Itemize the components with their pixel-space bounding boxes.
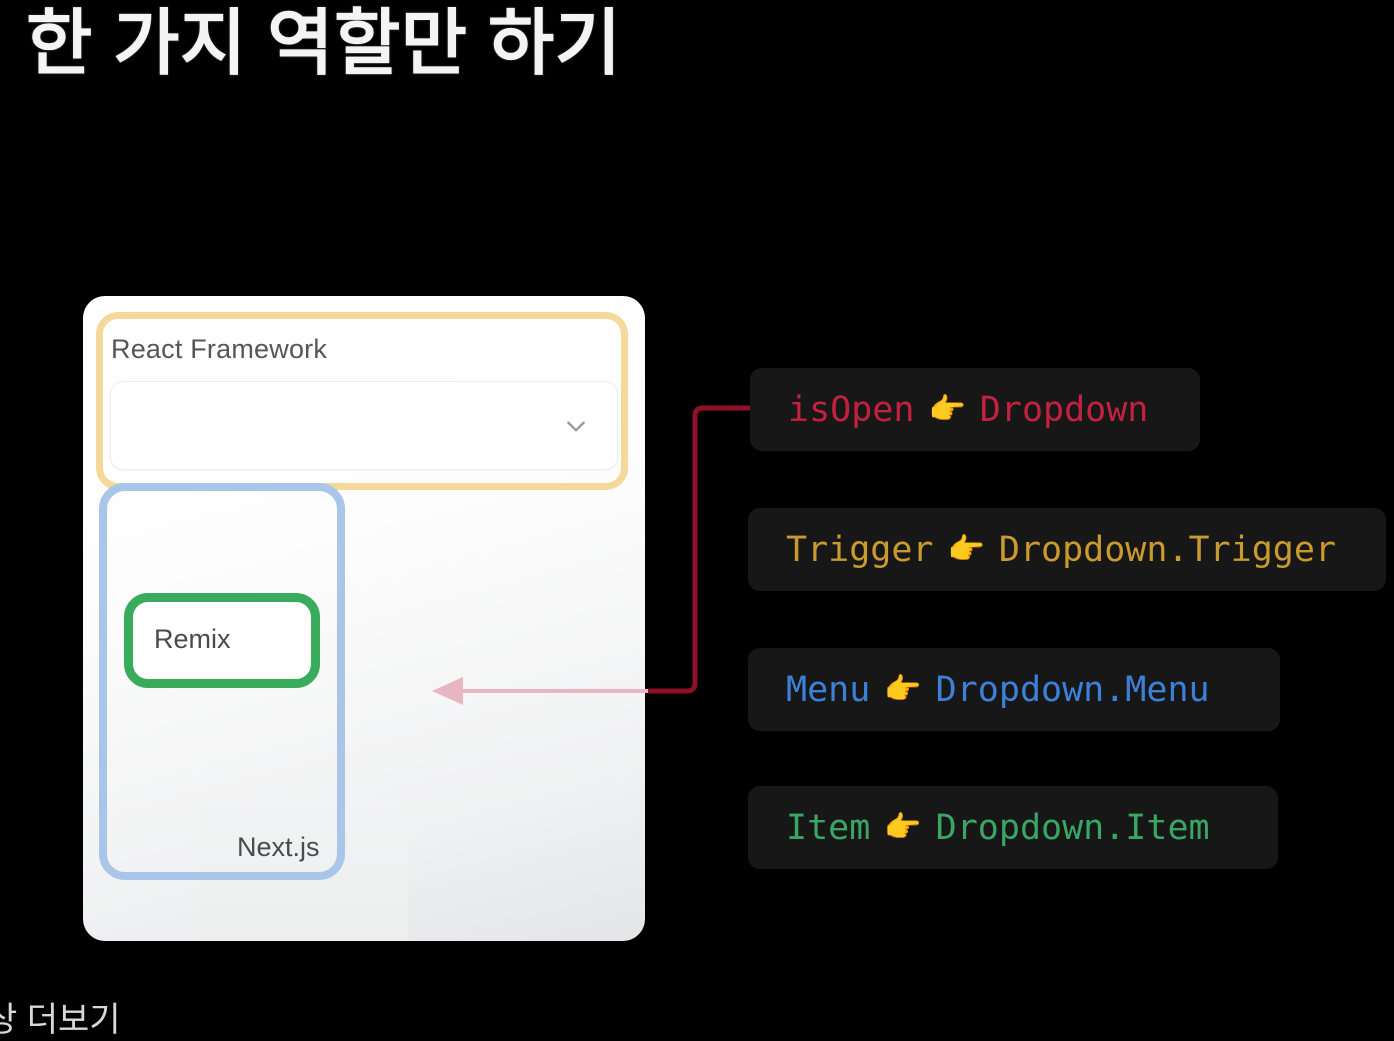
- badge-trigger: Trigger 👉 Dropdown.Trigger: [748, 508, 1386, 591]
- badge-right-text: Dropdown.Trigger: [999, 530, 1336, 570]
- badge-right-text: Dropdown: [980, 390, 1149, 430]
- pointing-hand-icon: 👉: [884, 675, 921, 705]
- badge-menu: Menu 👉 Dropdown.Menu: [748, 648, 1280, 731]
- menu-item-remix[interactable]: Remix: [200, 892, 408, 941]
- chevron-down-icon[interactable]: [563, 413, 589, 439]
- badge-left-text: Item: [786, 808, 870, 848]
- bottom-caption: 상 더보기: [0, 992, 121, 1041]
- badge-item: Item 👉 Dropdown.Item: [748, 786, 1278, 869]
- page-title: 한 가지 역할만 하기: [26, 4, 621, 85]
- menu-item-next[interactable]: Next.js: [200, 802, 408, 892]
- field-label: React Framework: [111, 334, 327, 365]
- badge-isopen: isOpen 👉 Dropdown: [750, 368, 1200, 451]
- badge-right-text: Dropdown.Item: [936, 808, 1210, 848]
- menu-item-label: Next.js: [237, 832, 320, 863]
- badge-left-text: Menu: [786, 670, 870, 710]
- badge-left-text: isOpen: [788, 390, 914, 430]
- framework-select[interactable]: [110, 381, 618, 470]
- pointing-hand-icon: 👉: [948, 535, 985, 565]
- framework-menu-panel[interactable]: Next.js Remix Gatsby Relay: [200, 796, 408, 941]
- badge-left-text: Trigger: [786, 530, 934, 570]
- badge-right-text: Dropdown.Menu: [936, 670, 1210, 710]
- pointing-hand-icon: 👉: [884, 813, 921, 843]
- pointing-hand-icon: 👉: [928, 395, 965, 425]
